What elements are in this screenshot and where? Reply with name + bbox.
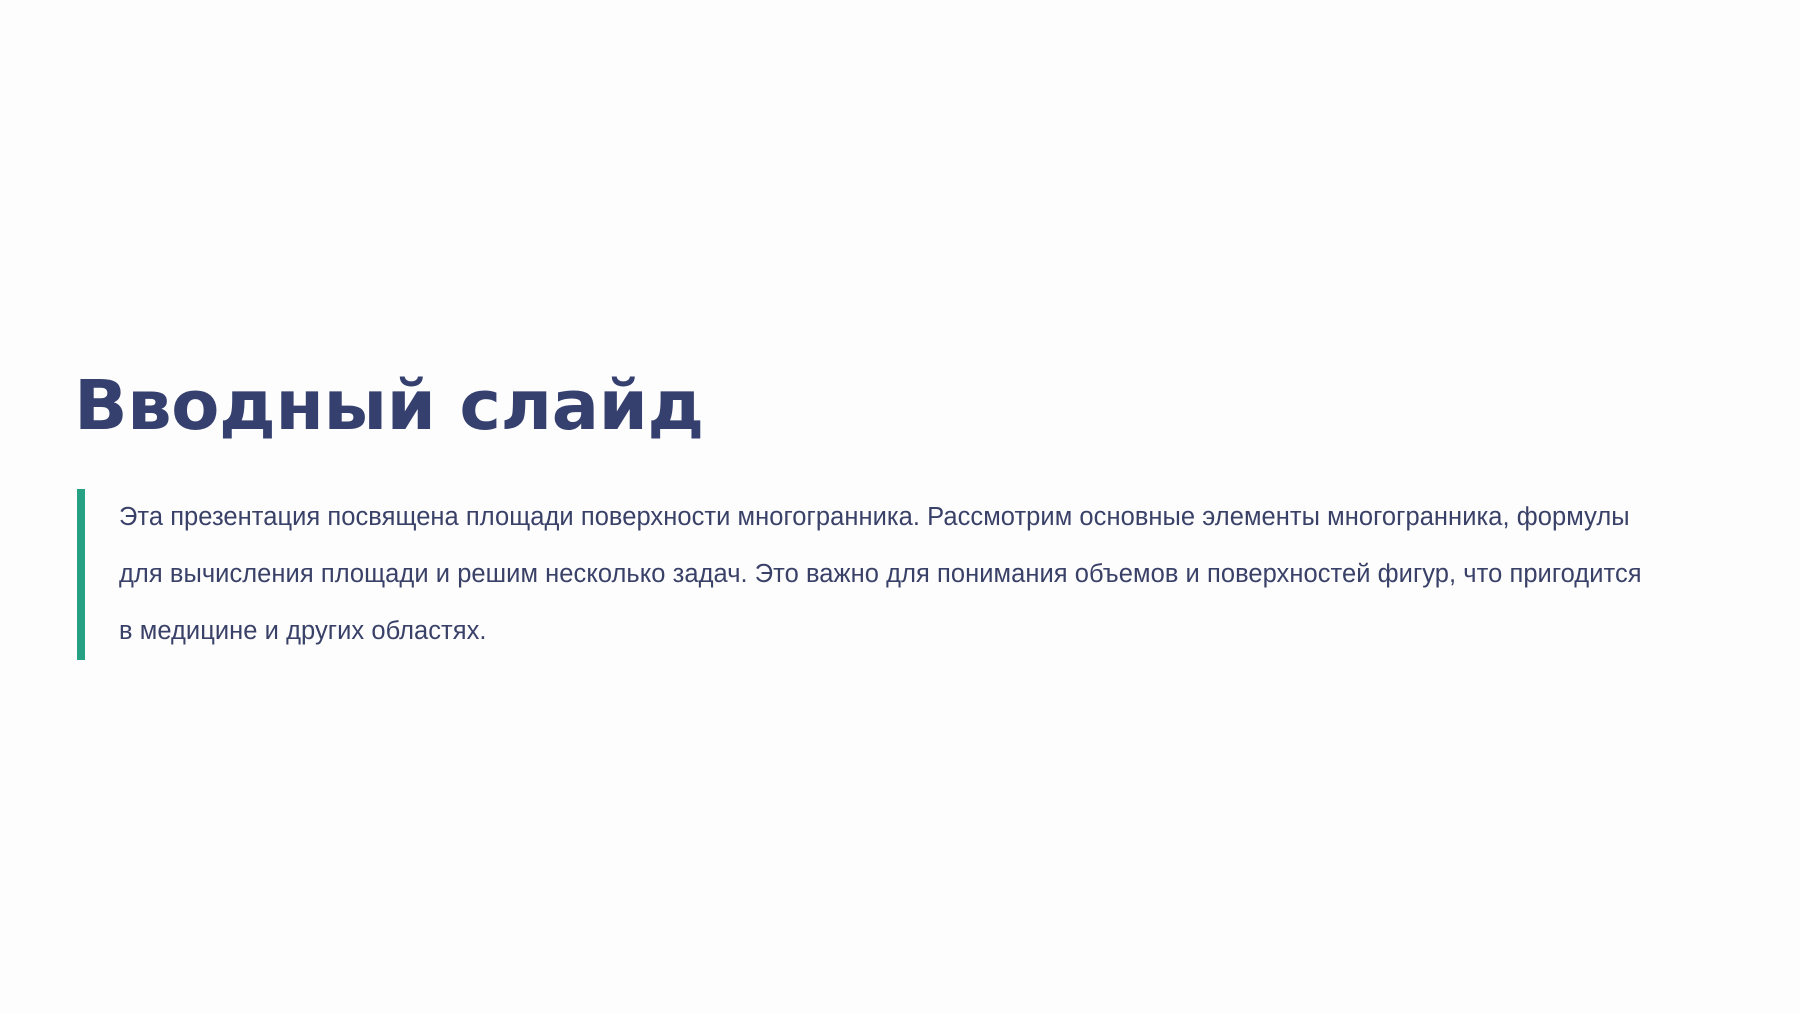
body-paragraph: Эта презентация посвящена площади поверх… <box>85 489 1650 660</box>
page-title: Вводный слайд <box>74 372 704 441</box>
presentation-slide: Вводный слайд Эта презентация посвящена … <box>0 0 1800 1013</box>
accent-bar <box>77 489 85 660</box>
body-block: Эта презентация посвящена площади поверх… <box>77 489 1677 660</box>
